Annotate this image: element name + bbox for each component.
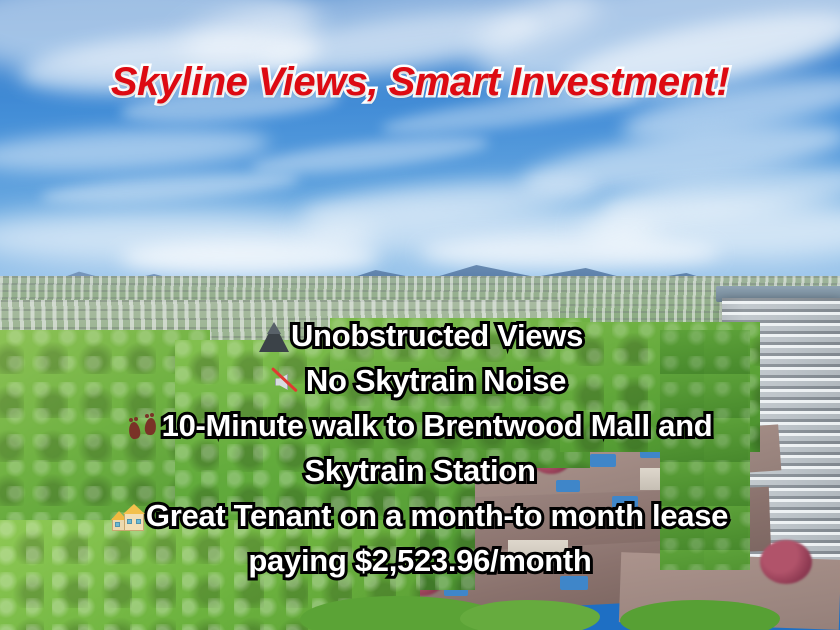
shrub	[620, 600, 780, 630]
feature-text: Skytrain Station	[304, 453, 535, 488]
feature-text: Unobstructed Views	[291, 318, 583, 353]
feature-line-skytrain-station: Skytrain Station	[0, 448, 840, 493]
real-estate-poster: Skyline Views, Smart Investment! Unobstr…	[0, 0, 840, 630]
feature-line-walk-to-mall: 10-Minute walk to Brentwood Mall and	[0, 403, 840, 448]
muted-speaker-icon	[274, 369, 306, 397]
footprints-icon	[128, 414, 162, 442]
mountain-icon	[257, 322, 291, 352]
feature-text: Great Tenant on a month-to month lease	[146, 498, 728, 533]
houses-icon	[112, 504, 146, 532]
cloud-bank	[120, 240, 380, 276]
feature-text: 10-Minute walk to Brentwood Mall and	[162, 408, 713, 443]
feature-line-unobstructed-views: Unobstructed Views	[0, 313, 840, 358]
cloud-bank	[420, 236, 720, 270]
feature-line-great-tenant: Great Tenant on a month-to month lease	[0, 493, 840, 538]
feature-line-monthly-rent: paying $2,523.96/month	[0, 538, 840, 583]
shrub	[460, 600, 600, 630]
feature-text: paying $2,523.96/month	[248, 543, 591, 578]
poster-title: Skyline Views, Smart Investment!	[0, 60, 840, 105]
feature-text: No Skytrain Noise	[306, 363, 566, 398]
poster-features-list: Unobstructed Views No Skytrain Noise 10-…	[0, 313, 840, 583]
feature-line-no-skytrain-noise: No Skytrain Noise	[0, 358, 840, 403]
